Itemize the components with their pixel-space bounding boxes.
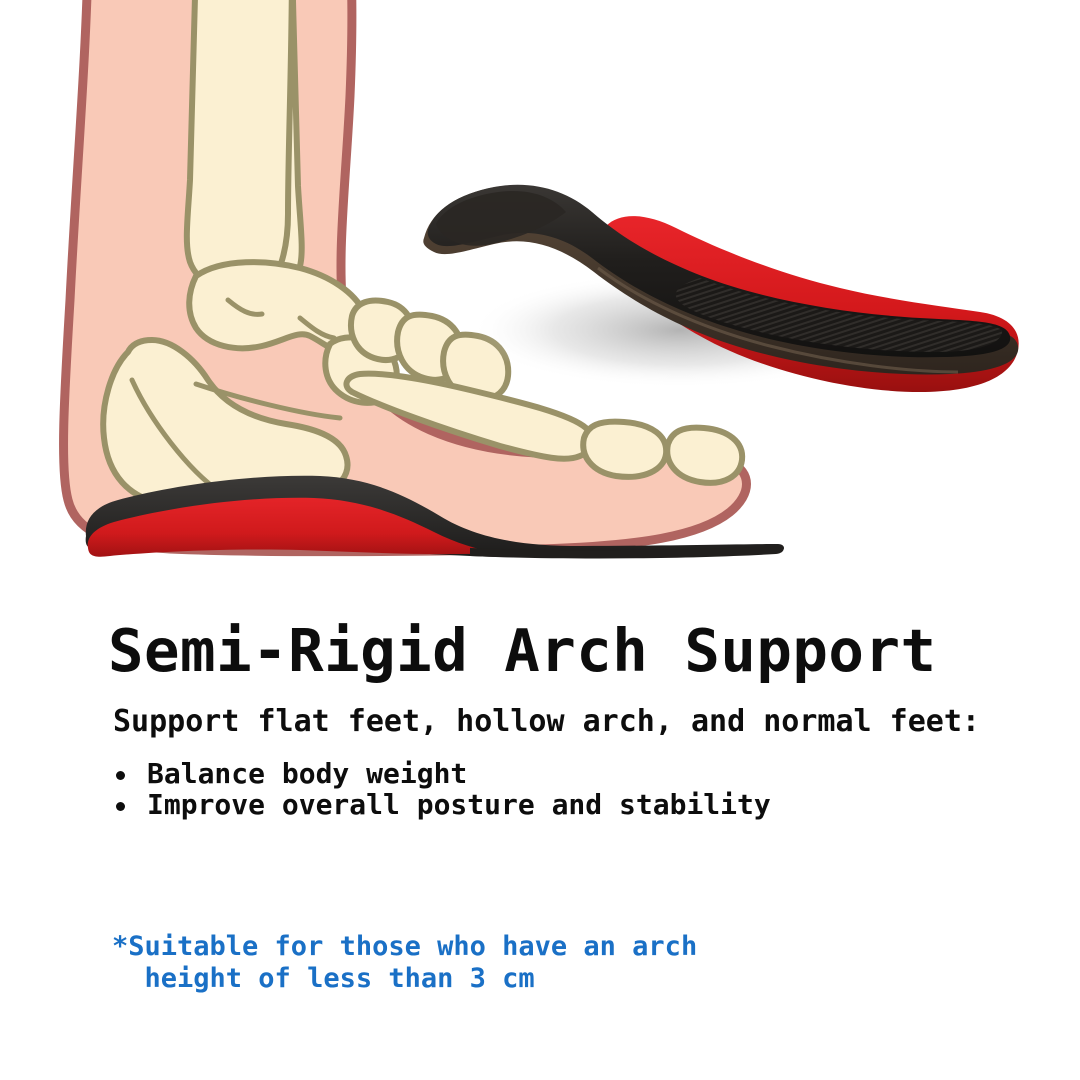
tibia-bone bbox=[187, 0, 293, 289]
list-item-label: Balance body weight bbox=[147, 757, 467, 790]
product-text-block: Semi-Rigid Arch Support Support flat fee… bbox=[0, 600, 1080, 1080]
suitability-footnote: *Suitable for those who have an arch hei… bbox=[112, 931, 697, 995]
insole-product-photo bbox=[423, 185, 1018, 392]
page-title: Semi-Rigid Arch Support bbox=[108, 620, 936, 682]
foot-anatomy-diagram bbox=[0, 0, 1080, 600]
distal-phalanx-bone bbox=[667, 428, 742, 483]
list-item: Balance body weight bbox=[113, 758, 771, 789]
benefits-list: Balance body weight Improve overall post… bbox=[113, 758, 771, 820]
list-item: Improve overall posture and stability bbox=[113, 789, 771, 820]
illustration-area bbox=[0, 0, 1080, 600]
subtitle-text: Support flat feet, hollow arch, and norm… bbox=[113, 704, 980, 739]
bullet-dot-icon bbox=[116, 802, 125, 811]
bullet-dot-icon bbox=[116, 771, 125, 780]
list-item-label: Improve overall posture and stability bbox=[147, 788, 771, 821]
proximal-phalanx-bone bbox=[583, 422, 666, 477]
